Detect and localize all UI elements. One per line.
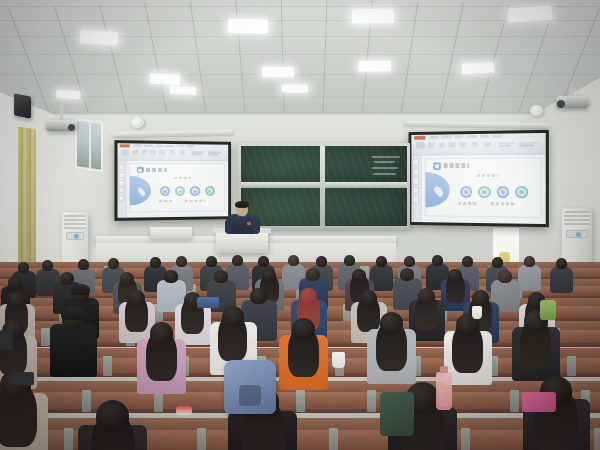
slide-circle-3 <box>497 186 510 198</box>
tablet-device <box>10 372 34 385</box>
app-ribbon[interactable] <box>118 143 229 161</box>
stage-step <box>150 227 192 239</box>
slide-title-icon <box>137 167 144 173</box>
audience-head <box>306 268 320 281</box>
desk-bracket <box>461 428 470 450</box>
wall-speaker-icon <box>14 93 31 118</box>
projector-lens-icon <box>68 124 75 131</box>
slide-thumbnail-pane[interactable] <box>118 161 127 218</box>
ribbon-label <box>519 142 537 144</box>
file-tab[interactable] <box>120 144 130 147</box>
ceiling-light-6 <box>262 67 294 78</box>
ribbon-label <box>519 145 533 147</box>
ribbon-group-button[interactable] <box>472 142 479 148</box>
pink-water-bottle <box>436 372 452 410</box>
desk-bracket <box>296 390 305 412</box>
ceiling-light-7 <box>358 60 391 71</box>
slide-caption-2 <box>491 203 517 206</box>
audience-head <box>556 258 567 269</box>
audience-head <box>120 272 134 285</box>
audience-head <box>60 272 74 285</box>
slide-thumbnail[interactable] <box>119 171 125 177</box>
baseball-cap <box>61 306 86 320</box>
audience-head <box>206 256 217 267</box>
audience-head <box>472 290 489 306</box>
audience-head <box>352 269 366 282</box>
ribbon-group-button[interactable] <box>449 142 456 147</box>
audience-head <box>462 256 473 267</box>
ceiling-light-8 <box>462 62 495 74</box>
slide-circle-3 <box>190 186 200 196</box>
ribbon-label <box>208 154 219 156</box>
desk-bracket <box>64 428 73 450</box>
slide-thumbnail[interactable] <box>413 196 419 203</box>
ribbon-group-button[interactable] <box>428 142 435 147</box>
audience-head <box>300 288 317 304</box>
app-ribbon[interactable] <box>411 133 545 155</box>
chalk-writing <box>372 167 398 169</box>
slide-circle-2 <box>175 186 185 196</box>
audience-head <box>128 290 145 306</box>
slide-thumbnail[interactable] <box>413 168 419 175</box>
ac-power-led-icon <box>74 234 79 239</box>
ribbon-group-button[interactable] <box>142 150 148 155</box>
audience-head <box>492 257 503 268</box>
audience-head <box>292 318 315 340</box>
ribbon-group-button[interactable] <box>160 150 166 155</box>
slide-circle-1 <box>160 186 170 196</box>
side-window <box>75 118 103 172</box>
audience-head <box>288 255 299 266</box>
slide-thumbnail[interactable] <box>119 179 125 185</box>
ribbon-label <box>499 142 515 144</box>
slide-half-circle-graphic <box>425 173 450 208</box>
ribbon-tab[interactable] <box>480 135 489 138</box>
slide-circle-4 <box>205 186 215 196</box>
audience-head <box>18 262 29 273</box>
presenter-arm-right <box>253 219 260 234</box>
desk-bracket <box>82 390 91 412</box>
desk-bracket <box>510 390 519 412</box>
ceiling-grid-line <box>0 54 600 55</box>
slide-thumbnail-pane[interactable] <box>411 155 421 222</box>
droplet-icon <box>433 185 445 197</box>
audience-head <box>418 288 435 304</box>
ribbon-tab[interactable] <box>441 136 452 139</box>
audience-head <box>448 269 462 282</box>
audience-head <box>404 256 415 267</box>
audience-torso <box>518 265 541 291</box>
red-white-object <box>176 406 192 415</box>
ceiling-light-4 <box>508 6 553 23</box>
smoke-detector-icon <box>131 117 144 128</box>
slide-subtitle-text <box>174 177 191 180</box>
audience-head <box>222 306 244 327</box>
slide-circle-4 <box>515 186 528 198</box>
desk-bracket <box>567 356 576 376</box>
ribbon-group-button[interactable] <box>180 150 185 155</box>
droplet-icon <box>137 186 147 196</box>
desk-bracket <box>367 390 376 412</box>
pink-pouch <box>522 392 556 412</box>
audience-head <box>360 290 377 306</box>
slide-title-text <box>444 163 469 168</box>
slide-app-window <box>118 143 229 218</box>
green-bottle <box>540 300 556 320</box>
ceiling-grid-line <box>0 96 600 97</box>
slide-circle-1 <box>460 186 472 198</box>
presenter-torso <box>228 214 256 234</box>
wall-ceiling-joint <box>0 112 600 115</box>
audience-head <box>262 269 276 282</box>
ribbon-tab[interactable] <box>454 135 463 138</box>
ceiling-light-3 <box>352 9 395 24</box>
audience-head <box>432 255 443 266</box>
audience-head <box>316 256 327 267</box>
ribbon-group-button[interactable] <box>122 149 129 155</box>
audience-head <box>8 292 25 308</box>
ceiling-grid-line <box>0 6 600 7</box>
audience-head <box>214 270 228 283</box>
audience-head <box>108 258 119 269</box>
ribbon-group-button[interactable] <box>170 150 176 155</box>
audience-head <box>400 268 414 281</box>
slide-thumbnail[interactable] <box>413 158 419 165</box>
ribbon-group-button[interactable] <box>484 142 491 148</box>
presenter-badge <box>247 222 251 225</box>
chalk-writing <box>372 156 400 158</box>
presenter-arm-left <box>225 219 232 234</box>
slide-circle-2 <box>478 186 491 198</box>
ac-grille <box>564 211 589 227</box>
chalk-writing <box>374 161 395 163</box>
chalk-writing <box>373 173 396 175</box>
slide-thumbnail[interactable] <box>119 163 125 169</box>
slide-caption-1 <box>459 202 476 205</box>
slide-canvas[interactable] <box>425 158 540 217</box>
slide-thumbnail[interactable] <box>413 177 419 184</box>
ac-grille <box>64 215 86 230</box>
slide-canvas[interactable] <box>130 164 224 212</box>
slide-thumbnail[interactable] <box>119 187 125 193</box>
audience-head <box>250 288 267 304</box>
slide-caption-2 <box>185 200 205 202</box>
audience-head <box>524 256 535 267</box>
ribbon-label <box>192 153 202 155</box>
left-screen[interactable] <box>114 140 231 221</box>
desk-bracket <box>594 428 600 450</box>
ribbon-label <box>499 145 511 147</box>
slide-app-window <box>411 133 545 224</box>
paper-cup <box>472 306 482 319</box>
green-handbag <box>380 392 414 436</box>
ribbon-group-button[interactable] <box>132 150 138 155</box>
audience-head <box>8 276 22 289</box>
chalkboard-divider <box>320 146 325 226</box>
paper-cup <box>332 352 345 368</box>
lectern[interactable] <box>216 231 268 253</box>
file-tab[interactable] <box>414 136 426 140</box>
ceiling-light-11 <box>282 84 308 92</box>
ceiling-grid-line <box>0 74 600 75</box>
audience-head <box>150 322 173 344</box>
slide-thumbnail[interactable] <box>119 195 125 201</box>
presenter-hair <box>235 201 249 208</box>
audience-head <box>258 256 269 267</box>
blue-folder <box>197 297 219 308</box>
ceiling-light-2 <box>228 19 268 34</box>
bottle-cap <box>440 366 448 373</box>
audience-head <box>232 255 243 266</box>
slide-thumbnail[interactable] <box>413 187 419 194</box>
desk-bracket <box>197 428 206 450</box>
audience-head <box>344 255 355 266</box>
slide-editor-stage <box>118 161 229 218</box>
ribbon-group-button[interactable] <box>416 142 424 149</box>
ribbon-group-button[interactable] <box>460 142 467 148</box>
ac-power-led-icon <box>576 232 581 237</box>
desk-bracket <box>103 356 112 376</box>
audience-head <box>164 270 178 283</box>
audience-head <box>176 256 187 267</box>
baseball-cap <box>71 284 90 295</box>
audience-head <box>498 270 512 283</box>
audience-head <box>42 260 53 271</box>
audience-head <box>96 400 129 432</box>
slide-subtitle-text <box>477 174 498 177</box>
audience-torso <box>550 267 573 293</box>
mobile-phone <box>0 330 13 350</box>
ribbon-group-button[interactable] <box>439 142 446 147</box>
desk-bracket <box>41 328 50 346</box>
audience-head <box>78 259 89 270</box>
ceiling-light-1 <box>79 30 118 46</box>
slide-editor-stage <box>411 154 545 224</box>
ribbon-tab[interactable] <box>492 135 503 138</box>
desk-bracket <box>329 428 338 450</box>
slide-caption-1 <box>159 200 173 202</box>
ribbon-tab[interactable] <box>466 135 477 138</box>
projector-lens-icon <box>557 100 565 108</box>
ceiling-light-10 <box>170 86 196 95</box>
slide-title-text <box>146 168 167 172</box>
right-screen[interactable] <box>409 130 549 227</box>
slide-half-circle-graphic <box>130 176 151 206</box>
audience-head <box>150 257 161 268</box>
ceiling-light-5 <box>150 73 181 85</box>
lecture-hall-photo <box>0 0 600 450</box>
blue-backpack <box>224 360 276 414</box>
audience-head <box>376 256 387 267</box>
ribbon-tab[interactable] <box>429 136 438 139</box>
ribbon-group-button[interactable] <box>151 150 157 155</box>
audience-torso <box>50 324 97 377</box>
smoke-detector-icon <box>530 105 543 116</box>
audience-head <box>380 312 403 334</box>
slide-title-icon <box>433 162 441 169</box>
